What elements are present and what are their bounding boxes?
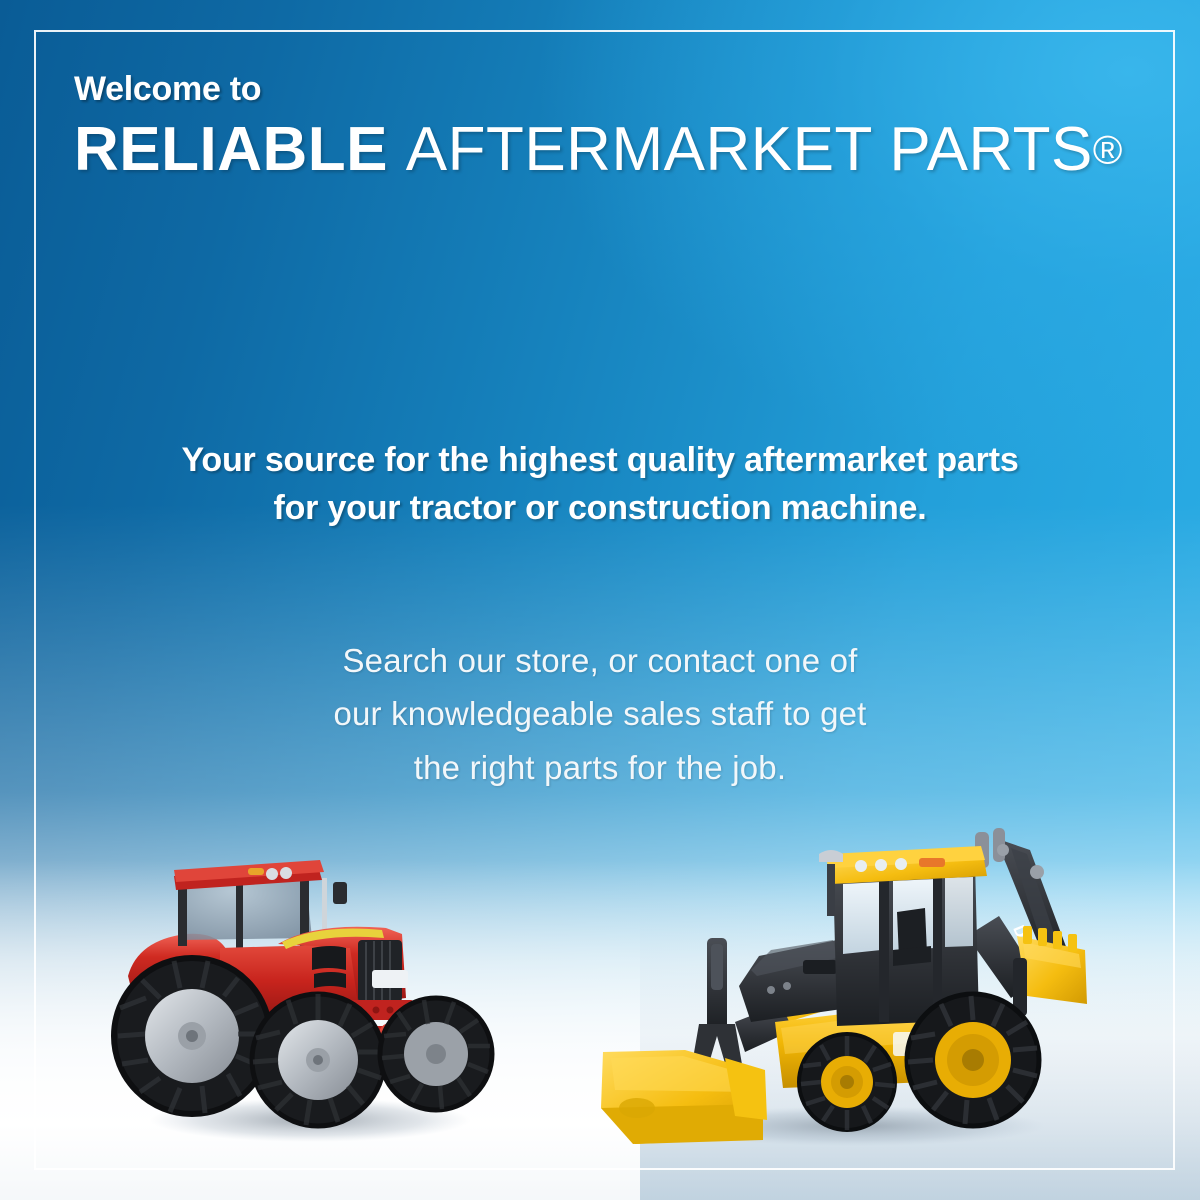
tractor-work-light [266, 868, 278, 880]
backhoe-rear-wheel [907, 994, 1039, 1126]
tractor-rear-wheel [114, 958, 270, 1114]
header: Welcome to RELIABLE AFTERMARKET PARTS® [74, 72, 1144, 181]
tractor-side-vent [312, 946, 346, 970]
tractor-mirror [333, 882, 347, 904]
tagline: Your source for the highest quality afte… [0, 436, 1200, 533]
tractor-beacon [248, 868, 264, 875]
brand-name-bold: RELIABLE [74, 115, 388, 184]
subtext: Search our store, or contact one of our … [0, 634, 1200, 794]
brand-name-light: AFTERMARKET PARTS [406, 115, 1093, 184]
welcome-text: Welcome to [74, 72, 1144, 108]
promo-banner: Welcome to RELIABLE AFTERMARKET PARTS® Y… [0, 0, 1200, 1200]
tagline-line-1: Your source for the highest quality afte… [110, 436, 1090, 484]
backhoe-work-light [875, 859, 887, 871]
subtext-line-1: Search our store, or contact one of [150, 634, 1050, 687]
tractor-far-front-wheel [380, 998, 492, 1110]
subtext-line-3: the right parts for the job. [150, 741, 1050, 794]
registered-trademark-icon: ® [1093, 128, 1122, 172]
backhoe-exhaust-stack [827, 864, 835, 916]
tagline-line-2: for your tractor or construction machine… [110, 484, 1090, 532]
subtext-line-2: our knowledgeable sales staff to get [150, 687, 1050, 740]
tractor-mirror-arm [322, 878, 327, 934]
tractor-work-light [280, 867, 292, 879]
loader-front-bucket [601, 1050, 767, 1144]
backhoe-front-wheel [799, 1034, 895, 1130]
backhoe-beacon [919, 858, 945, 867]
yellow-backhoe-loader-image: DEERE [575, 808, 1090, 1153]
tractor-front-wheel [252, 994, 384, 1126]
backhoe-stabilizer-leg [691, 938, 743, 1070]
brand-title: RELIABLE AFTERMARKET PARTS® [74, 118, 1144, 181]
red-tractor-image [100, 848, 510, 1148]
backhoe-work-light [895, 858, 907, 870]
tractor-headlight [372, 970, 408, 988]
backhoe-work-light [855, 860, 867, 872]
